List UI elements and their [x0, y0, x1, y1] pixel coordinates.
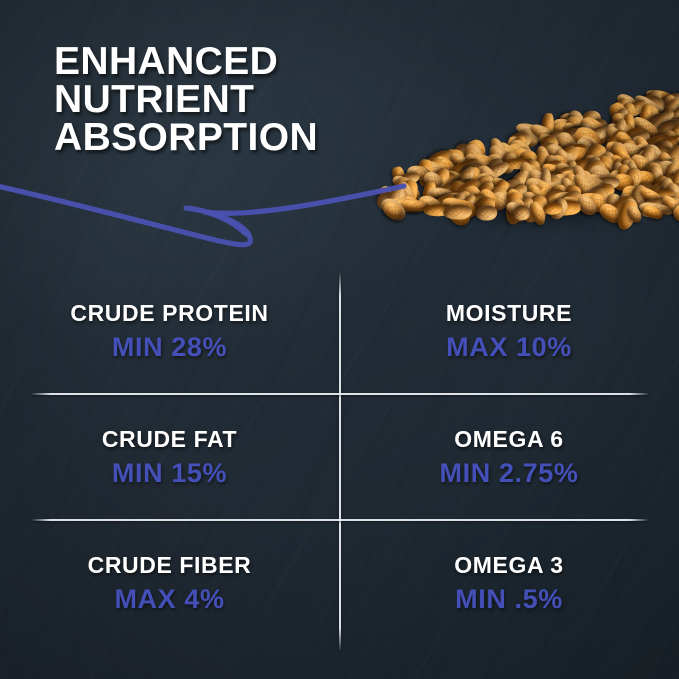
- curved-arrow-pointing-left: [0, 150, 420, 265]
- product-benefit-poster: ENHANCED NUTRIENT ABSORPTION CRUDE PROTE…: [0, 0, 679, 679]
- nutrient-label: OMEGA 3: [454, 552, 563, 579]
- nutrition-cell-crude-fat: CRUDE FAT MIN 15%: [0, 394, 339, 520]
- nutrient-value: MIN .5%: [455, 584, 563, 615]
- page-title: ENHANCED NUTRIENT ABSORPTION: [54, 43, 474, 157]
- nutrition-cells: CRUDE PROTEIN MIN 28% MOISTURE MAX 10% C…: [0, 268, 679, 658]
- headline-line-1: ENHANCED: [54, 43, 474, 81]
- nutrition-cell-omega-3: OMEGA 3 MIN .5%: [339, 520, 679, 646]
- nutrient-label: MOISTURE: [446, 300, 572, 327]
- nutrition-cell-crude-fiber: CRUDE FIBER MAX 4%: [0, 520, 339, 646]
- headline-line-2: NUTRIENT: [54, 81, 474, 119]
- nutrient-value: MAX 4%: [114, 584, 224, 615]
- nutrition-cell-crude-protein: CRUDE PROTEIN MIN 28%: [0, 268, 339, 394]
- nutrition-spec-grid: CRUDE PROTEIN MIN 28% MOISTURE MAX 10% C…: [0, 268, 679, 658]
- nutrient-label: CRUDE FIBER: [88, 552, 252, 579]
- nutrient-value: MIN 2.75%: [440, 458, 579, 489]
- nutrient-label: CRUDE PROTEIN: [70, 300, 268, 327]
- nutrition-cell-omega-6: OMEGA 6 MIN 2.75%: [339, 394, 679, 520]
- nutrient-label: OMEGA 6: [454, 426, 563, 453]
- nutrient-value: MIN 28%: [112, 332, 227, 363]
- headline-line-3: ABSORPTION: [54, 119, 474, 157]
- nutrient-value: MIN 15%: [112, 458, 227, 489]
- nutrient-value: MAX 10%: [446, 332, 572, 363]
- nutrition-cell-moisture: MOISTURE MAX 10%: [339, 268, 679, 394]
- nutrient-label: CRUDE FAT: [102, 426, 237, 453]
